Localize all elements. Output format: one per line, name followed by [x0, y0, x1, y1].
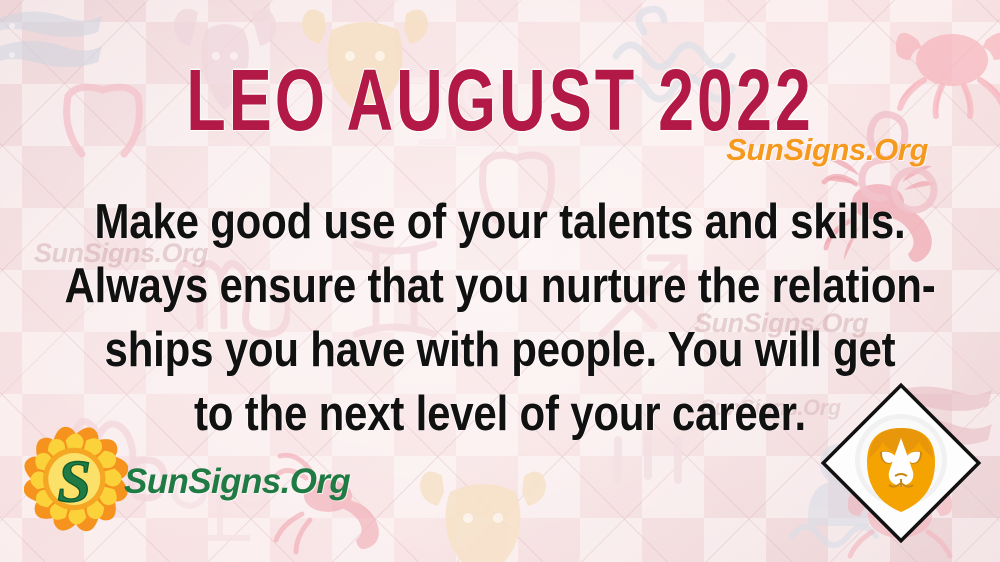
horoscope-banner: SunSigns.Org SunSigns.Org SunSigns.Org L…	[0, 0, 1000, 562]
site-logo[interactable]: S SunSigns.Org	[24, 426, 350, 532]
leo-lion-icon	[820, 382, 982, 544]
logo-text: SunSigns.Org	[124, 462, 350, 502]
sun-logo-icon: S	[24, 426, 128, 532]
brand-name-top: SunSigns.Org	[726, 132, 928, 168]
zodiac-taurus-icon-2	[408, 452, 558, 562]
page-title: LEO AUGUST 2022	[10, 56, 990, 143]
logo-letter-s: S	[57, 449, 91, 516]
